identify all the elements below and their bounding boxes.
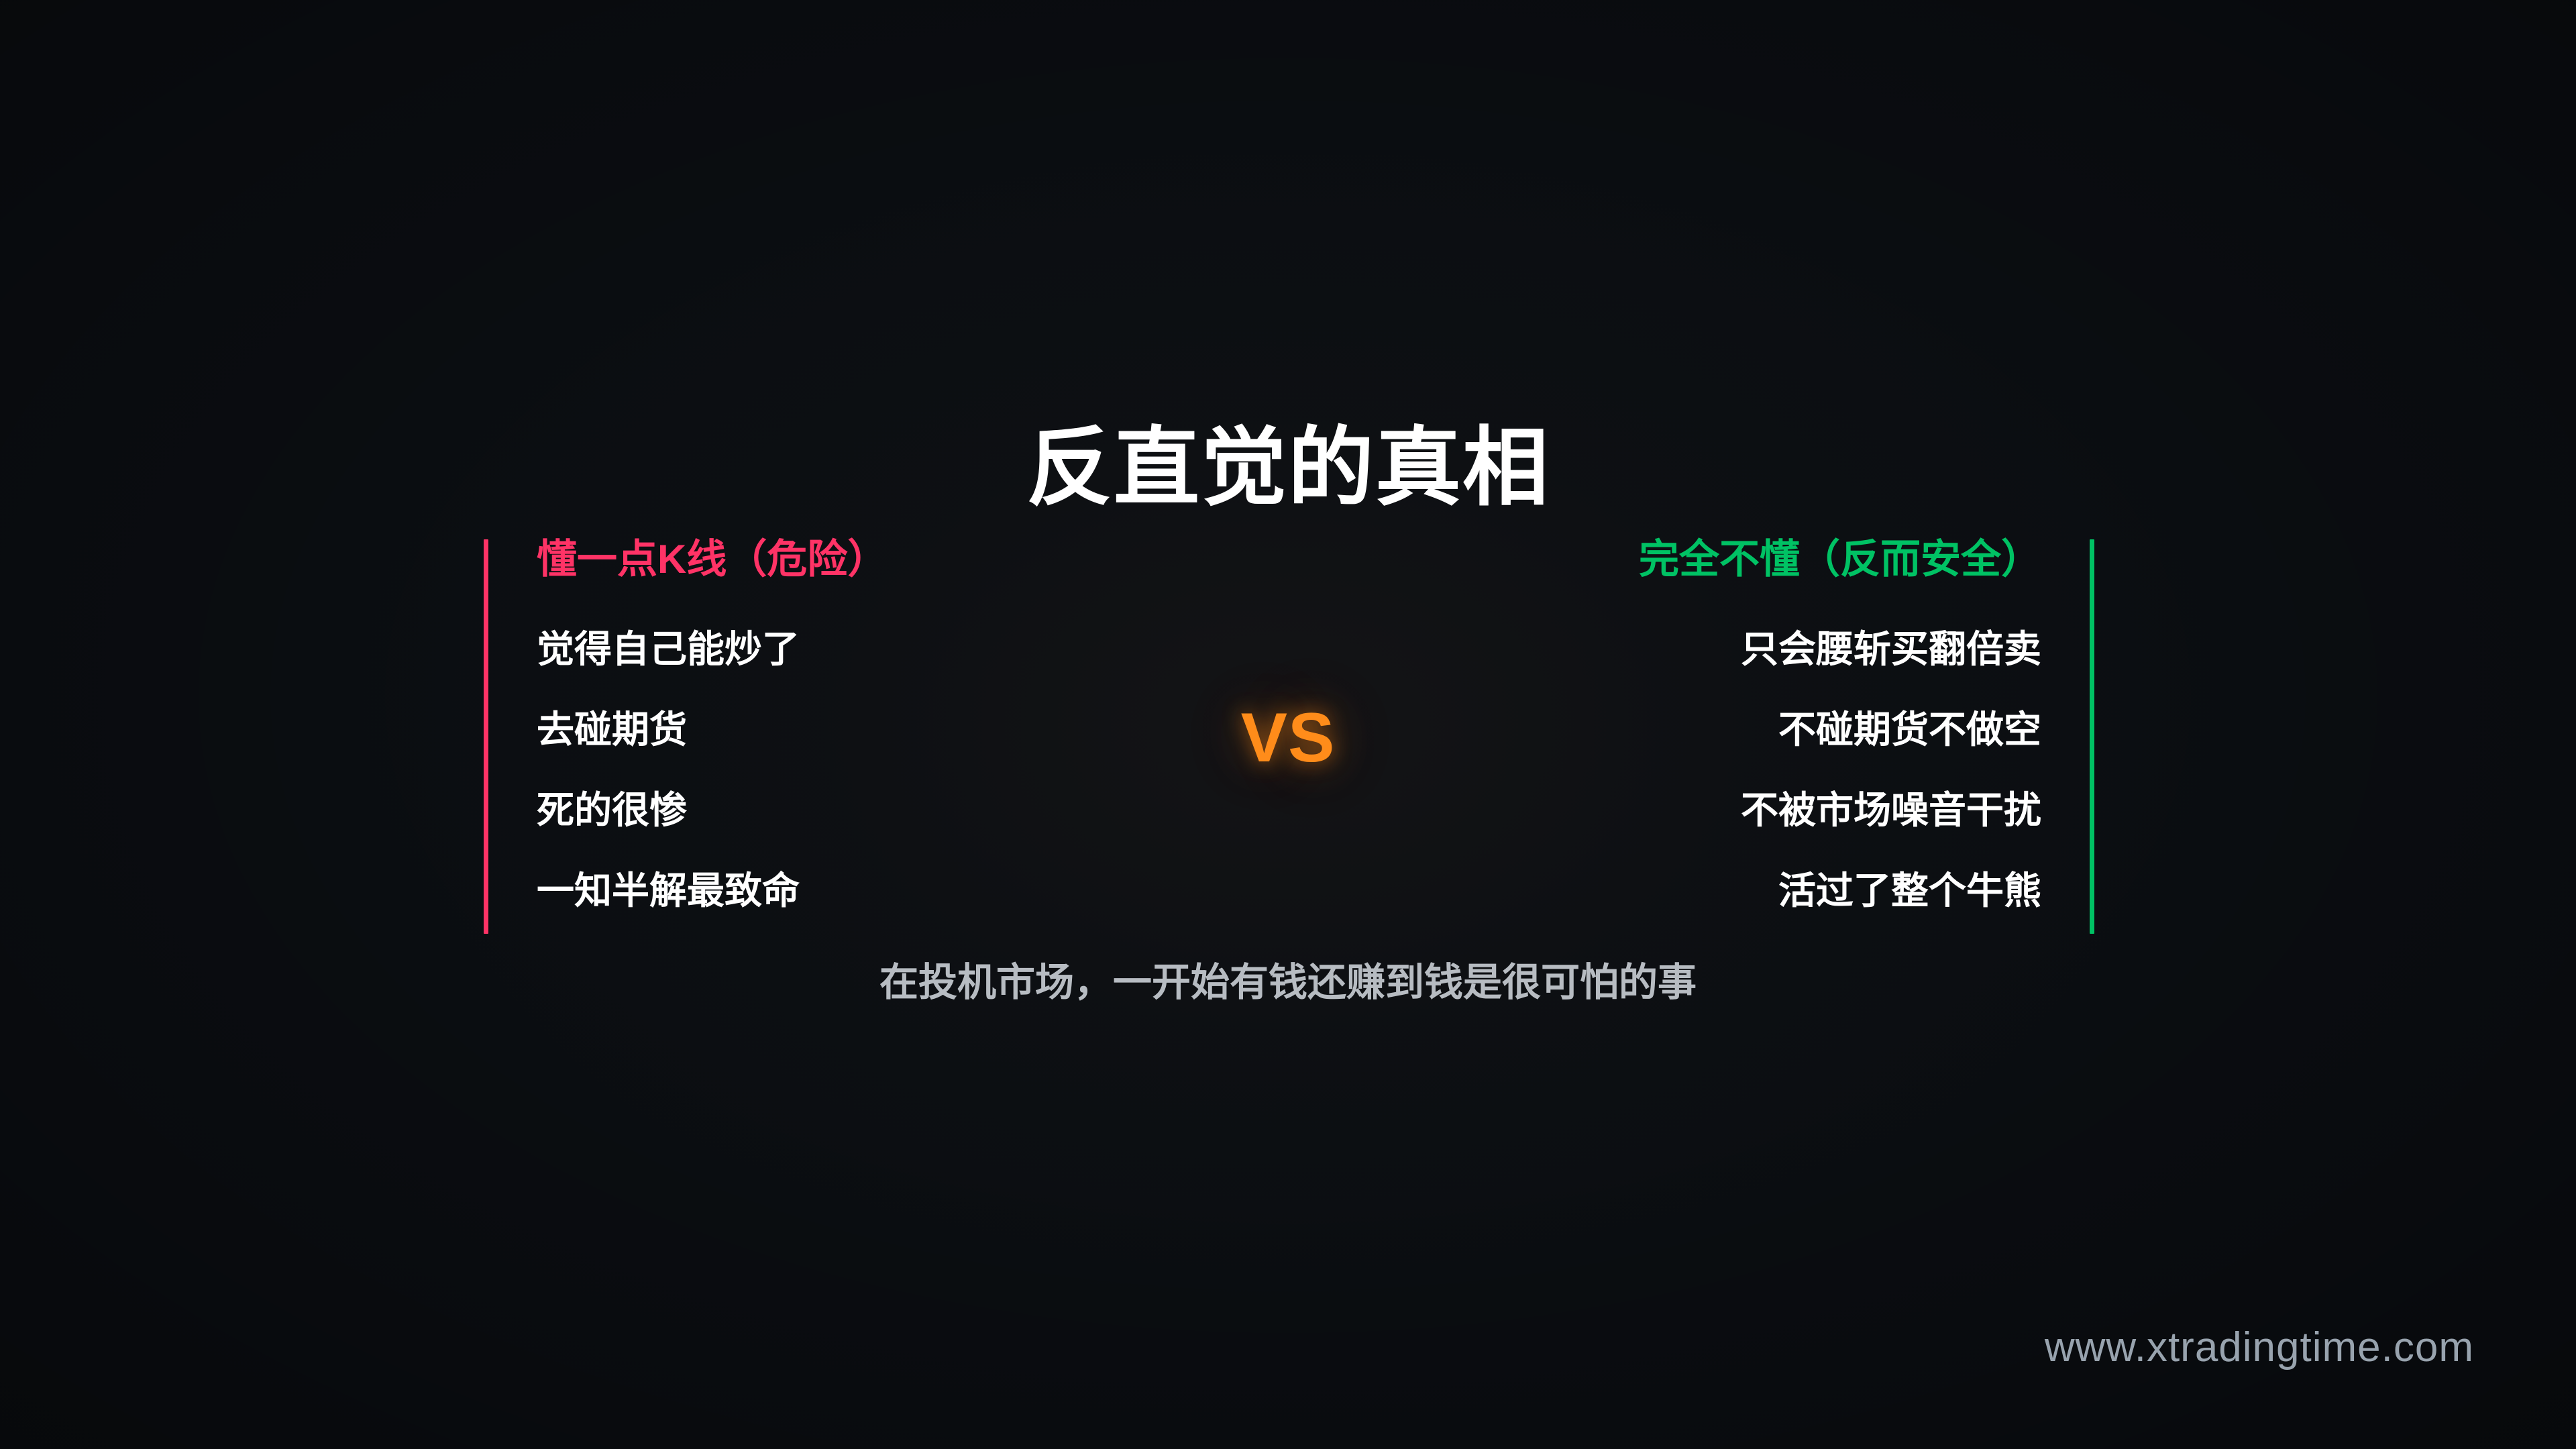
list-item: 死的很惨 bbox=[537, 792, 1140, 829]
list-item: 不碰期货不做空 bbox=[1438, 711, 2041, 749]
list-item: 觉得自己能炒了 bbox=[537, 631, 1140, 668]
list-item: 活过了整个牛熊 bbox=[1438, 872, 2041, 910]
right-accent-rule bbox=[2090, 539, 2094, 934]
list-item: 不被市场噪音干扰 bbox=[1438, 792, 2041, 829]
site-watermark: www.xtradingtime.com bbox=[2045, 1327, 2474, 1368]
left-accent-rule bbox=[484, 539, 488, 934]
vs-badge: VS bbox=[1241, 703, 1336, 773]
page-title: 反直觉的真相 bbox=[0, 421, 2576, 516]
right-column-list: 只会腰斩买翻倍卖 不碰期货不做空 不被市场噪音干扰 活过了整个牛熊 bbox=[1438, 631, 2041, 910]
left-column: 懂一点K线（危险） 觉得自己能炒了 去碰期货 死的很惨 一知半解最致命 bbox=[537, 539, 1140, 910]
list-item: 只会腰斩买翻倍卖 bbox=[1438, 631, 2041, 668]
caption-text: 在投机市场，一开始有钱还赚到钱是很可怕的事 bbox=[0, 961, 2576, 1006]
right-column-header: 完全不懂（反而安全） bbox=[1438, 539, 2041, 580]
left-column-header: 懂一点K线（危险） bbox=[537, 539, 1140, 580]
right-column: 完全不懂（反而安全） 只会腰斩买翻倍卖 不碰期货不做空 不被市场噪音干扰 活过了… bbox=[1438, 539, 2041, 910]
list-item: 一知半解最致命 bbox=[537, 872, 1140, 910]
slide-root: 反直觉的真相 懂一点K线（危险） 觉得自己能炒了 去碰期货 死的很惨 一知半解最… bbox=[0, 0, 2576, 1449]
left-column-list: 觉得自己能炒了 去碰期货 死的很惨 一知半解最致命 bbox=[537, 631, 1140, 910]
list-item: 去碰期货 bbox=[537, 711, 1140, 749]
